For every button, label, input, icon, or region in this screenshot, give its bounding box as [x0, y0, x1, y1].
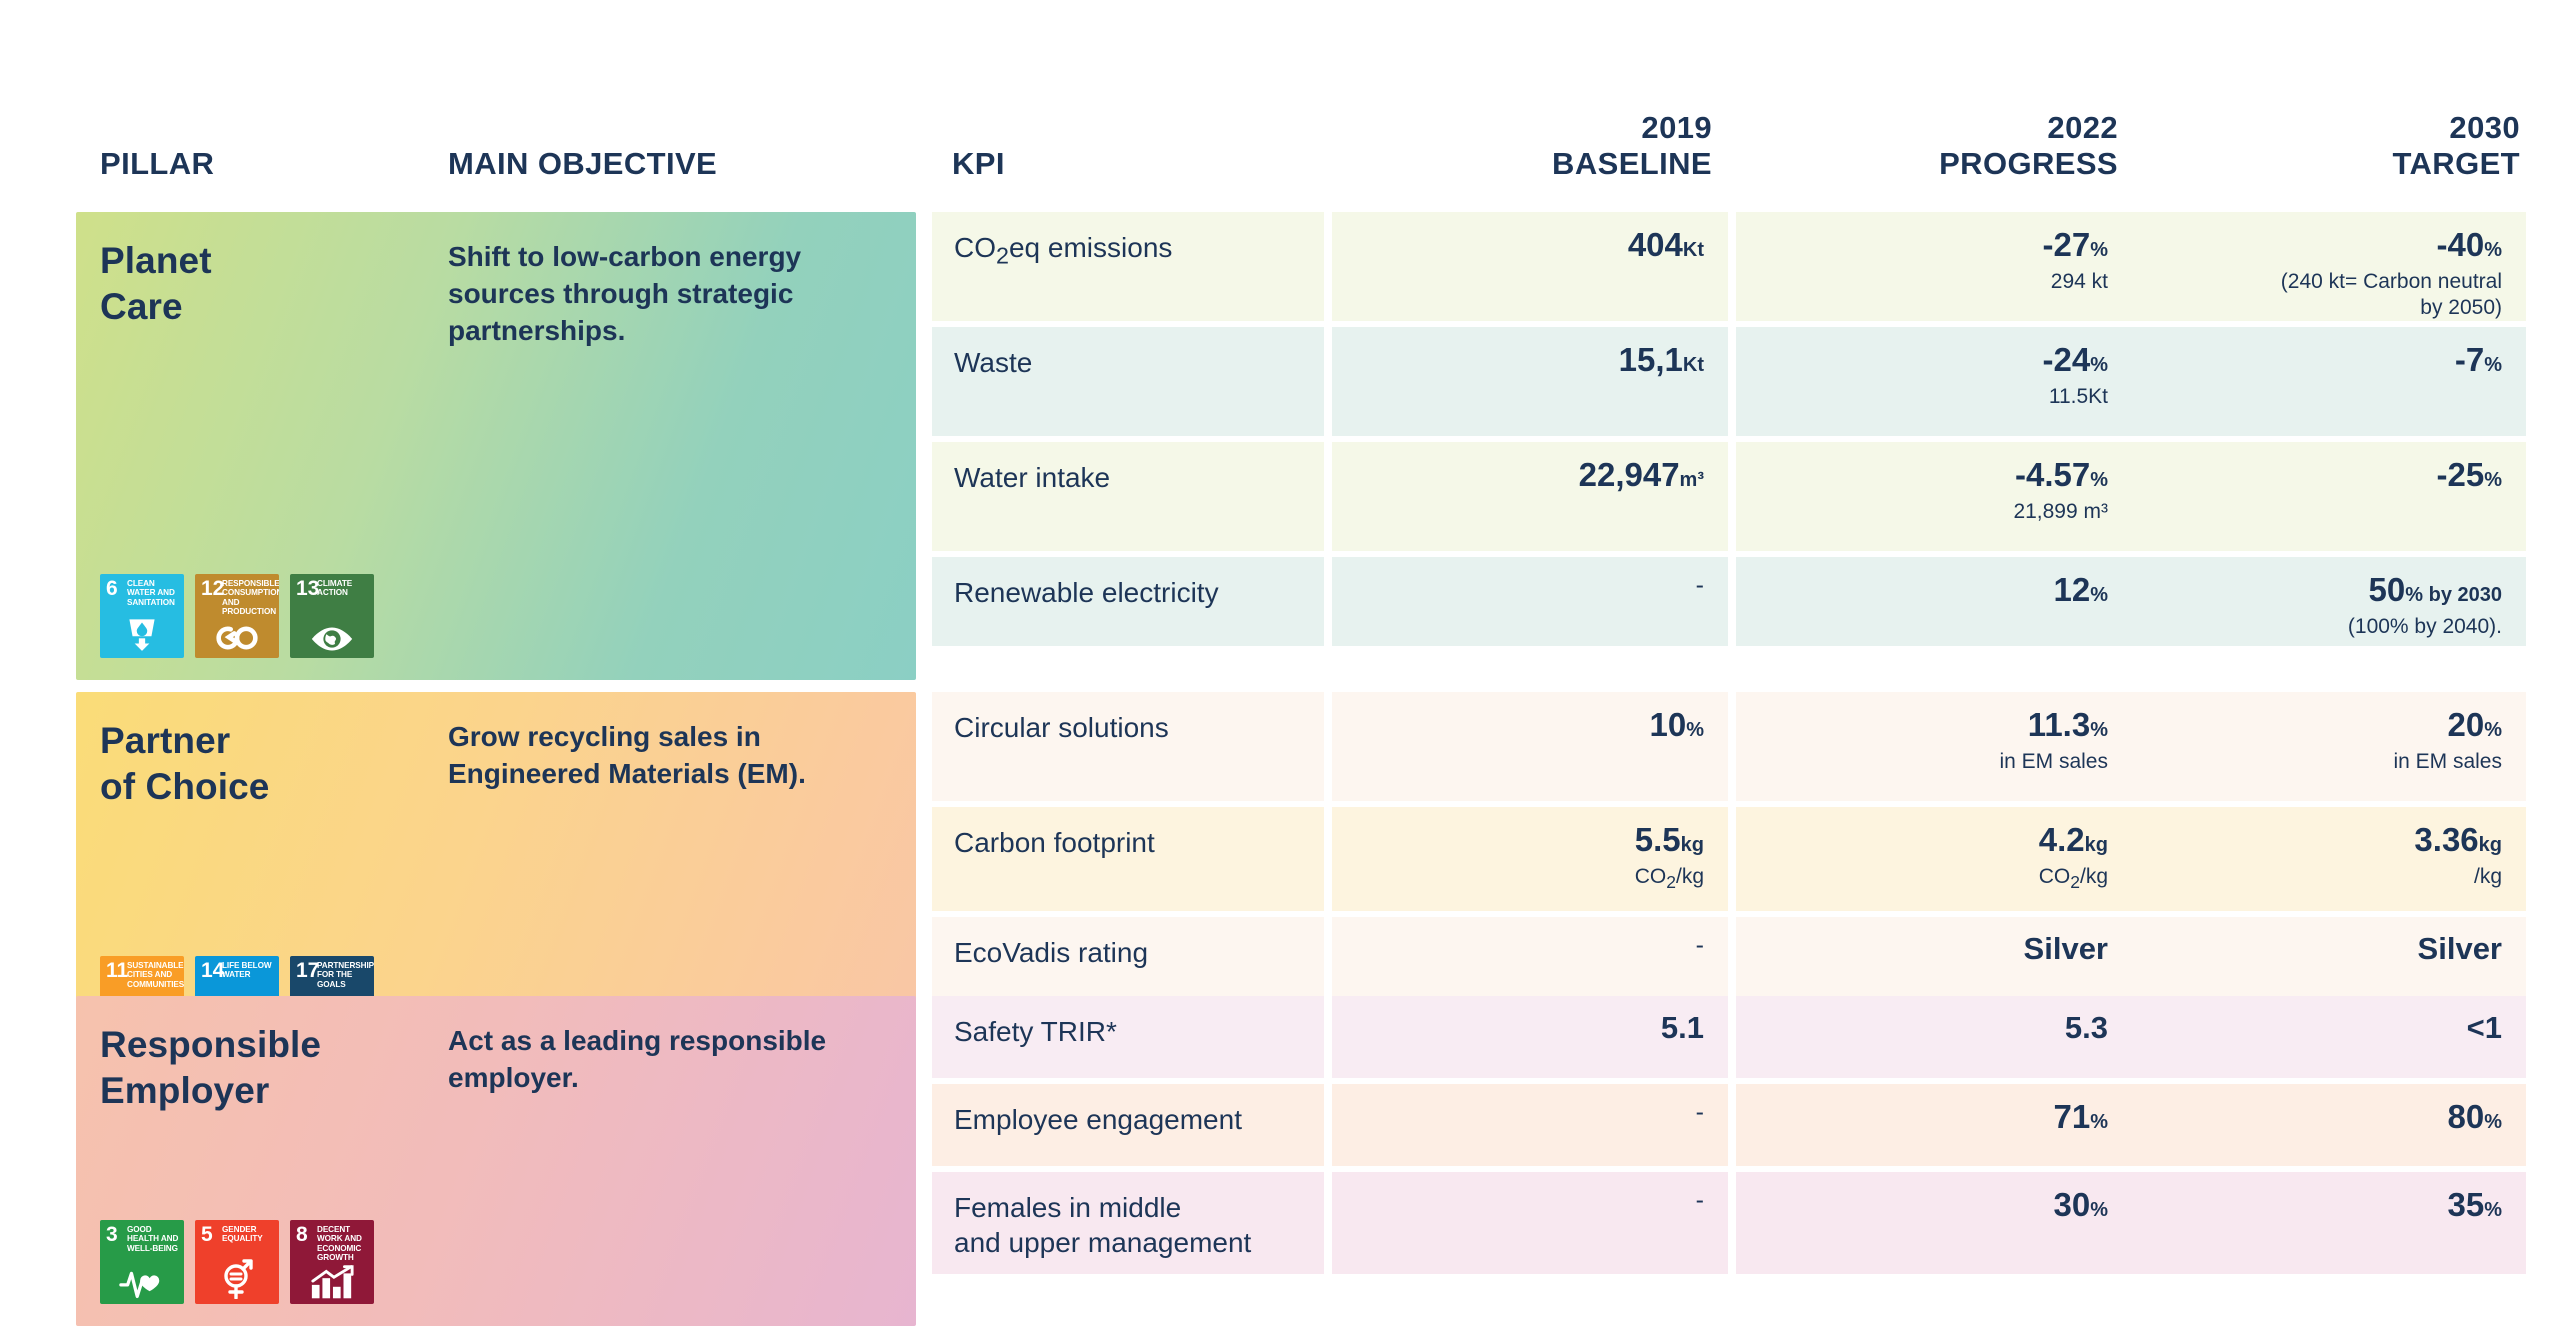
target-value: 80%: [2447, 1098, 2502, 1137]
sdg-label: Sustainable Cities and Communities: [127, 961, 181, 989]
target-value: Silver: [2418, 931, 2502, 968]
value-text: Silver: [2418, 931, 2502, 966]
kpi-name-cell: Carbon footprint: [932, 807, 1324, 911]
value-unit: %: [2484, 1111, 2502, 1133]
value-text: Silver: [2024, 931, 2108, 966]
baseline-2019-cell: 15,1Kt: [1332, 327, 1728, 436]
kpi-name-cell: Water intake: [932, 442, 1324, 551]
column-header-2022-progress: 2022 PROGRESS: [1728, 111, 2118, 182]
progress-2022-cell: 11.3%in EM sales: [1736, 692, 2132, 801]
baseline-year: 2019: [1332, 111, 1712, 146]
value-number: 3.36: [2414, 821, 2478, 858]
target-2030-cell: 80%: [2130, 1084, 2526, 1166]
eye-earth-icon: [309, 625, 355, 653]
target-value: -7%: [2455, 341, 2502, 380]
value-unit: % by 2030: [2405, 584, 2502, 606]
gender-equality-icon: [217, 1259, 257, 1299]
progress-value: Silver: [2024, 931, 2108, 968]
baseline-2019-cell: 5.1: [1332, 996, 1728, 1078]
pillar-objective: Act as a leading responsible employer.: [448, 1022, 888, 1096]
value-unit: kg: [2479, 834, 2502, 856]
baseline-value: 22,947m³: [1579, 456, 1704, 495]
target-value: -25%: [2437, 456, 2503, 495]
target-2030-cell: <1: [2130, 996, 2526, 1078]
column-header-objective: MAIN OBJECTIVE: [448, 146, 918, 182]
baseline-2019-cell: -: [1332, 1084, 1728, 1166]
value-subtext: 11.5Kt: [2043, 384, 2109, 410]
progress-2022-cell: 30%: [1736, 1172, 2132, 1274]
target-2030-cell: 20%in EM sales: [2130, 692, 2526, 801]
baseline-2019-cell: 5.5kgCO2/kg: [1332, 807, 1728, 911]
growth-chart-icon: [309, 1265, 355, 1299]
sdg-label: Gender Equality: [222, 1225, 276, 1244]
value-subtext: 21,899 m³: [2013, 499, 2108, 525]
value-unit: %: [2090, 239, 2108, 261]
kpi-label: Renewable electricity: [954, 575, 1310, 610]
target-2030-cell: -25%: [2130, 442, 2526, 551]
target-year: 2030: [2130, 111, 2520, 146]
pillar-block: Responsible EmployerAct as a leading res…: [76, 996, 916, 1326]
value-number: -40: [2437, 226, 2485, 263]
value-unit: %: [2090, 1111, 2108, 1133]
sdg-label: Life Below Water: [222, 961, 276, 980]
baseline-value: -: [1696, 931, 1704, 961]
sdg-label: Clean Water and Sanitation: [127, 579, 181, 607]
progress-2022-cell: Silver: [1736, 917, 2132, 1001]
baseline-2019-cell: 22,947m³: [1332, 442, 1728, 551]
progress-year: 2022: [1728, 111, 2118, 146]
kpi-name-cell: Females in middleand upper management: [932, 1172, 1324, 1274]
value-number: -24: [2043, 341, 2091, 378]
target-value: 50% by 2030(100% by 2040).: [2348, 571, 2502, 640]
progress-2022-cell: 71%: [1736, 1084, 2132, 1166]
sdg-label: Good Health and Well-Being: [127, 1225, 181, 1253]
sdg-number: 11: [106, 960, 128, 981]
value-unit: kg: [1681, 834, 1704, 856]
baseline-value: 15,1Kt: [1619, 341, 1704, 380]
baseline-2019-cell: 10%: [1332, 692, 1728, 801]
value-number: 80: [2447, 1098, 2484, 1135]
sdg-label: Decent Work and Economic Growth: [317, 1225, 371, 1262]
baseline-2019-cell: -: [1332, 557, 1728, 646]
value-subtext: /kg: [2414, 864, 2502, 890]
kpi-name-cell: Waste: [932, 327, 1324, 436]
kpi-name-cell: CO2eq emissions: [932, 212, 1324, 321]
value-unit: %: [1686, 719, 1704, 741]
progress-value: 5.3: [2065, 1010, 2108, 1047]
value-number: 404: [1628, 226, 1683, 263]
value-number: 71: [2053, 1098, 2090, 1135]
progress-value: 12%: [2053, 571, 2108, 610]
sdg-number: 17: [296, 960, 319, 981]
value-subtext: in EM sales: [1999, 749, 2108, 775]
target-value: <1: [2467, 1010, 2502, 1047]
sdg-number: 13: [296, 578, 319, 599]
value-text: <1: [2467, 1010, 2502, 1045]
value-empty: -: [1696, 1098, 1704, 1126]
target-2030-cell: Silver: [2130, 917, 2526, 1001]
value-unit: %: [2090, 469, 2108, 491]
kpi-label: Carbon footprint: [954, 825, 1310, 860]
pillar-block: Planet CareShift to low-carbon energy so…: [76, 212, 916, 680]
value-subtext: (240 kt= Carbon neutralby 2050): [2281, 269, 2502, 320]
progress-value: 4.2kgCO2/kg: [2039, 821, 2108, 893]
baseline-value: 10%: [1649, 706, 1704, 745]
column-header-pillar: PILLAR: [100, 146, 440, 182]
value-number: 5.5: [1635, 821, 1681, 858]
target-value: 3.36kg/kg: [2414, 821, 2502, 890]
progress-value: -24%11.5Kt: [2043, 341, 2109, 410]
value-number: -27: [2043, 226, 2091, 263]
value-number: 10: [1649, 706, 1686, 743]
target-2030-cell: 3.36kg/kg: [2130, 807, 2526, 911]
progress-2022-cell: -4.57%21,899 m³: [1736, 442, 2132, 551]
progress-2022-cell: 12%: [1736, 557, 2132, 646]
value-unit: %: [2484, 239, 2502, 261]
progress-value: -4.57%21,899 m³: [2013, 456, 2108, 525]
target-2030-cell: -7%: [2130, 327, 2526, 436]
value-number: 11.3: [2028, 706, 2090, 743]
value-empty: -: [1696, 1186, 1704, 1214]
kpi-name-cell: Circular solutions: [932, 692, 1324, 801]
sdg-label: Responsible Consumption and Production: [222, 579, 276, 616]
value-empty: -: [1696, 931, 1704, 959]
value-number: 50: [2369, 571, 2406, 608]
value-subtext: CO2/kg: [2039, 864, 2108, 894]
baseline-2019-cell: 404Kt: [1332, 212, 1728, 321]
progress-2022-cell: 4.2kgCO2/kg: [1736, 807, 2132, 911]
value-number: -7: [2455, 341, 2484, 378]
sdg-number: 6: [106, 578, 118, 599]
sdg-number: 5: [201, 1224, 213, 1245]
kpi-name-cell: Employee engagement: [932, 1084, 1324, 1166]
baseline-value: -: [1696, 571, 1704, 601]
value-number: 30: [2053, 1186, 2090, 1223]
sdg-badge-12: 12Responsible Consumption and Production: [195, 574, 279, 658]
progress-value: -27%294 kt: [2043, 226, 2109, 295]
value-text: 5.1: [1661, 1010, 1704, 1045]
value-unit: %: [2090, 584, 2108, 606]
value-text: 5.3: [2065, 1010, 2108, 1045]
column-header-2019-baseline: 2019 BASELINE: [1332, 111, 1712, 182]
baseline-label: BASELINE: [1552, 146, 1712, 181]
progress-2022-cell: -27%294 kt: [1736, 212, 2132, 321]
sdg-number: 12: [201, 578, 224, 599]
value-unit: Kt: [1683, 354, 1704, 376]
kpi-label: Waste: [954, 345, 1310, 380]
sdg-icon-group: 3Good Health and Well-Being 5Gender Equa…: [100, 1220, 374, 1304]
heartbeat-icon: [119, 1267, 165, 1299]
sdg-badge-6: 6Clean Water and Sanitation: [100, 574, 184, 658]
pillar-objective: Grow recycling sales in Engineered Mater…: [448, 718, 888, 792]
target-2030-cell: 50% by 2030(100% by 2040).: [2130, 557, 2526, 646]
target-value: -40%(240 kt= Carbon neutralby 2050): [2281, 226, 2502, 320]
progress-value: 30%: [2053, 1186, 2108, 1225]
column-header-kpi: KPI: [952, 146, 1312, 182]
value-empty: -: [1696, 571, 1704, 599]
kpi-label: CO2eq emissions: [954, 230, 1310, 271]
kpi-label: Circular solutions: [954, 710, 1310, 745]
value-number: 35: [2447, 1186, 2484, 1223]
value-subtext: in EM sales: [2393, 749, 2502, 775]
sdg-badge-8: 8Decent Work and Economic Growth: [290, 1220, 374, 1304]
progress-2022-cell: 5.3: [1736, 996, 2132, 1078]
value-unit: %: [2090, 719, 2108, 741]
sdg-badge-13: 13Climate Action: [290, 574, 374, 658]
table-header-row: PILLAR MAIN OBJECTIVE KPI 2019 BASELINE …: [0, 0, 2560, 200]
value-unit: kg: [2085, 834, 2108, 856]
sdg-label: Climate Action: [317, 579, 371, 598]
pillar-title: Responsible Employer: [100, 1022, 321, 1113]
sdg-number: 3: [106, 1224, 118, 1245]
sdg-label: Partnerships for the Goals: [317, 961, 371, 989]
baseline-value: 5.5kgCO2/kg: [1635, 821, 1704, 893]
target-value: 35%: [2447, 1186, 2502, 1225]
kpi-label: EcoVadis rating: [954, 935, 1310, 970]
value-unit: %: [2484, 354, 2502, 376]
target-2030-cell: 35%: [2130, 1172, 2526, 1274]
kpi-label: Water intake: [954, 460, 1310, 495]
infinity-icon: [215, 623, 259, 653]
value-number: 15,1: [1619, 341, 1683, 378]
kpi-name-cell: EcoVadis rating: [932, 917, 1324, 1001]
baseline-value: -: [1696, 1098, 1704, 1128]
kpi-label: Employee engagement: [954, 1102, 1310, 1137]
value-unit: %: [2484, 469, 2502, 491]
column-header-2030-target: 2030 TARGET: [2130, 111, 2520, 182]
sdg-icon-group: 6Clean Water and Sanitation 12Responsibl…: [100, 574, 374, 658]
progress-value: 71%: [2053, 1098, 2108, 1137]
target-label: TARGET: [2392, 146, 2520, 181]
value-number: 22,947: [1579, 456, 1680, 493]
target-value: 20%in EM sales: [2393, 706, 2502, 775]
kpi-table-page: PILLAR MAIN OBJECTIVE KPI 2019 BASELINE …: [0, 0, 2560, 1338]
value-subtext: (100% by 2040).: [2348, 614, 2502, 640]
value-number: 4.2: [2039, 821, 2085, 858]
baseline-value: -: [1696, 1186, 1704, 1216]
value-subtext: CO2/kg: [1635, 864, 1704, 894]
value-number: 20: [2447, 706, 2484, 743]
value-number: -25: [2437, 456, 2485, 493]
sdg-badge-5: 5Gender Equality: [195, 1220, 279, 1304]
target-2030-cell: -40%(240 kt= Carbon neutralby 2050): [2130, 212, 2526, 321]
baseline-2019-cell: -: [1332, 1172, 1728, 1274]
progress-2022-cell: -24%11.5Kt: [1736, 327, 2132, 436]
sdg-badge-3: 3Good Health and Well-Being: [100, 1220, 184, 1304]
value-number: -4.57: [2015, 456, 2090, 493]
baseline-value: 404Kt: [1628, 226, 1704, 265]
value-unit: m³: [1680, 469, 1704, 491]
value-unit: %: [2090, 1199, 2108, 1221]
baseline-value: 5.1: [1661, 1010, 1704, 1047]
kpi-name-cell: Safety TRIR*: [932, 996, 1324, 1078]
value-unit: %: [2484, 719, 2502, 741]
value-unit: %: [2484, 1199, 2502, 1221]
kpi-label: Safety TRIR*: [954, 1014, 1310, 1049]
progress-label: PROGRESS: [1939, 146, 2118, 181]
value-number: 12: [2053, 571, 2090, 608]
value-subtext: 294 kt: [2043, 269, 2109, 295]
sdg-number: 14: [201, 960, 224, 981]
value-unit: %: [2090, 354, 2108, 376]
pillar-objective: Shift to low-carbon energy sources throu…: [448, 238, 888, 350]
baseline-2019-cell: -: [1332, 917, 1728, 1001]
kpi-name-cell: Renewable electricity: [932, 557, 1324, 646]
value-unit: Kt: [1683, 239, 1704, 261]
water-glass-icon: [121, 611, 163, 653]
pillar-title: Partner of Choice: [100, 718, 269, 809]
sdg-number: 8: [296, 1224, 308, 1245]
progress-value: 11.3%in EM sales: [1999, 706, 2108, 775]
pillar-title: Planet Care: [100, 238, 212, 329]
kpi-label: Females in middleand upper management: [954, 1190, 1310, 1261]
